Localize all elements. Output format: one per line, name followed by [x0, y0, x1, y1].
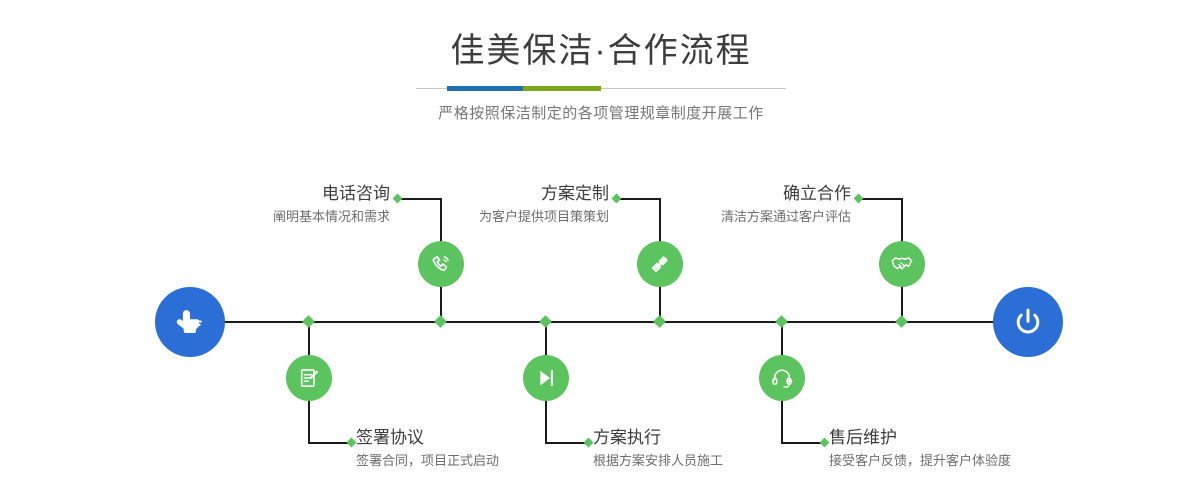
step-desc-step-1: 阐明基本情况和需求 — [154, 207, 390, 227]
step-title-step-4: 方案执行 — [593, 427, 723, 449]
handshake-icon — [889, 251, 915, 277]
step-desc-step-4: 根据方案安排人员施工 — [593, 451, 723, 471]
infographic-root: 佳美保洁·合作流程 严格按照保洁制定的各项管理规章制度开展工作 — [0, 0, 1202, 502]
axis-marker-step-6 — [775, 315, 788, 328]
step-desc-step-6: 接受客户反馈，提升客户体验度 — [829, 451, 1011, 471]
phone-call-icon — [428, 251, 454, 277]
headset-support-icon — [769, 365, 795, 391]
step-label-step-6: 售后维护 接受客户反馈，提升客户体验度 — [829, 427, 1011, 471]
divider-blue-segment — [447, 86, 523, 91]
play-execute-icon — [533, 365, 559, 391]
axis-marker-step-2 — [302, 315, 315, 328]
step-icon-step-3[interactable] — [637, 241, 683, 287]
connector-horizontal-step-5 — [859, 198, 903, 200]
step-label-step-2: 签署协议 签署合同，项目正式启动 — [356, 427, 499, 471]
step-icon-step-4[interactable] — [523, 355, 569, 401]
header: 佳美保洁·合作流程 严格按照保洁制定的各项管理规章制度开展工作 — [0, 28, 1202, 123]
step-label-step-4: 方案执行 根据方案安排人员施工 — [593, 427, 723, 471]
step-icon-step-2[interactable] — [286, 355, 332, 401]
step-desc-step-5: 清洁方案通过客户评估 — [615, 207, 851, 227]
step-title-step-1: 电话咨询 — [154, 183, 390, 205]
step-desc-step-3: 为客户提供项目策策划 — [373, 207, 609, 227]
axis-marker-step-3 — [653, 315, 666, 328]
timeline-end-endpoint — [993, 287, 1063, 357]
axis-marker-step-5 — [895, 315, 908, 328]
divider-green-segment — [523, 86, 601, 91]
step-title-step-2: 签署协议 — [356, 427, 499, 449]
label-marker-step-6 — [820, 438, 830, 448]
power-icon — [1009, 303, 1047, 341]
pointing-hand-icon — [171, 303, 209, 341]
timeline-start-endpoint — [155, 287, 225, 357]
step-title-step-5: 确立合作 — [615, 183, 851, 205]
step-icon-step-1[interactable] — [418, 241, 464, 287]
page-title: 佳美保洁·合作流程 — [0, 28, 1202, 74]
label-marker-step-4 — [584, 438, 594, 448]
label-marker-step-5 — [854, 194, 864, 204]
step-icon-step-6[interactable] — [759, 355, 805, 401]
timeline-axis — [155, 321, 1045, 323]
label-marker-step-2 — [347, 438, 357, 448]
step-label-step-1: 电话咨询 阐明基本情况和需求 — [154, 183, 390, 227]
step-label-step-5: 确立合作 清洁方案通过客户评估 — [615, 183, 851, 227]
axis-marker-step-4 — [539, 315, 552, 328]
page-subtitle: 严格按照保洁制定的各项管理规章制度开展工作 — [0, 102, 1202, 123]
step-icon-step-5[interactable] — [879, 241, 925, 287]
step-title-step-6: 售后维护 — [829, 427, 1011, 449]
title-divider — [416, 83, 786, 95]
axis-marker-step-1 — [434, 315, 447, 328]
pencil-ruler-icon — [647, 251, 673, 277]
step-title-step-3: 方案定制 — [373, 183, 609, 205]
step-label-step-3: 方案定制 为客户提供项目策策划 — [373, 183, 609, 227]
step-desc-step-2: 签署合同，项目正式启动 — [356, 451, 499, 471]
document-sign-icon — [296, 365, 322, 391]
